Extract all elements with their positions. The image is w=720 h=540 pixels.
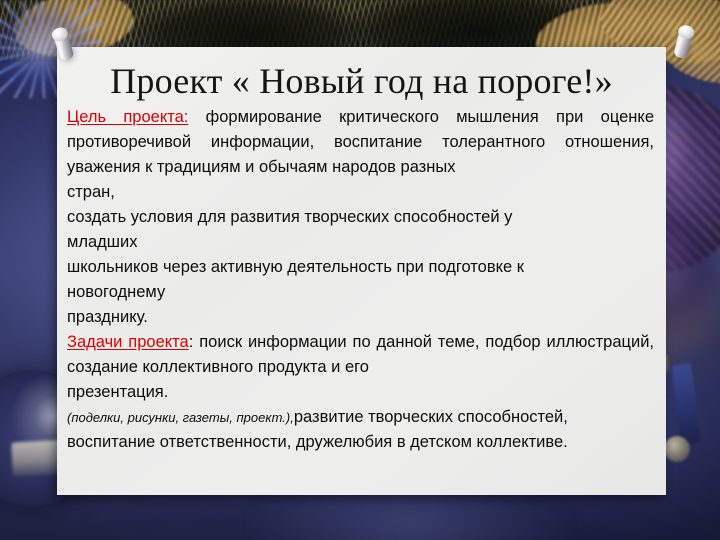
note-line-0: развитие творческих способностей, bbox=[294, 408, 568, 426]
goal-paragraph-countries: стран, bbox=[67, 180, 654, 205]
goal-line-7: новогоднему bbox=[67, 283, 165, 301]
goal-paragraph-conditions: создать условия для развития творческих … bbox=[67, 205, 654, 230]
goal-paragraph-holiday: празднику. bbox=[67, 305, 654, 330]
page-title: Проект « Новый год на пороге!» bbox=[97, 59, 626, 103]
tasks-paragraph-presentation: презентация. bbox=[67, 380, 654, 405]
goal-paragraph-pupils: школьников через активную деятельность п… bbox=[67, 255, 654, 280]
goal-line-6: школьников через активную деятельность п… bbox=[67, 258, 524, 276]
goal-paragraph-younger: младших bbox=[67, 230, 654, 255]
goal-line-4: создать условия для развития творческих … bbox=[67, 208, 512, 226]
tasks-label: Задачи проекта bbox=[67, 333, 189, 351]
note-line-1: воспитание ответственности, дружелюбия в… bbox=[67, 433, 568, 451]
goal-line-8: празднику. bbox=[67, 308, 148, 326]
note-paragraph-upbringing: воспитание ответственности, дружелюбия в… bbox=[67, 430, 654, 455]
slide-body: Цель проекта: формирование критического … bbox=[67, 105, 654, 455]
goal-line-3: стран, bbox=[67, 183, 115, 201]
goal-line-5: младших bbox=[67, 233, 137, 251]
card-inner: Проект « Новый год на пороге!» Цель прое… bbox=[57, 47, 666, 455]
tasks-paragraph: Задачи проекта: поиск информации по данн… bbox=[67, 330, 654, 380]
note-paragraph: (поделки, рисунки, газеты, проект.),разв… bbox=[67, 405, 654, 430]
tasks-line-2: презентация. bbox=[67, 383, 168, 401]
goal-paragraph: Цель проекта: формирование критического … bbox=[67, 105, 654, 180]
goal-line-0: формирование критического мышления при bbox=[188, 108, 583, 126]
presentation-slide: Проект « Новый год на пороге!» Цель прое… bbox=[0, 0, 720, 540]
tasks-line-0: поиск информации по данной теме, подбор bbox=[193, 333, 540, 351]
content-card: Проект « Новый год на пороге!» Цель прое… bbox=[57, 47, 666, 495]
goal-label: Цель проекта: bbox=[67, 108, 188, 126]
goal-paragraph-newyear: новогоднему bbox=[67, 280, 654, 305]
note-italic: (поделки, рисунки, газеты, проект.), bbox=[67, 410, 294, 425]
